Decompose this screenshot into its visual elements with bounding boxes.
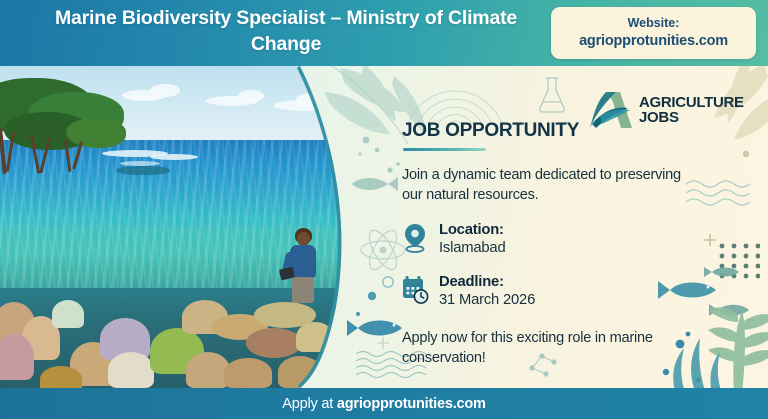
footer-prefix: Apply at [282, 396, 337, 412]
fish-school-decoration [652, 264, 760, 388]
agriculture-jobs-logo: AGRICULTURE JOBS [588, 90, 744, 130]
location-value: Islamabad [439, 240, 505, 258]
lab-flask-icon [536, 74, 568, 116]
cloud-shape [296, 93, 328, 105]
coral-shape [108, 352, 154, 388]
coral-shape [52, 300, 84, 328]
coral-shape [296, 322, 334, 352]
sparkle-icon [376, 336, 390, 350]
deadline-label: Deadline: [439, 274, 535, 292]
header-bar: Marine Biodiversity Specialist – Ministr… [0, 0, 768, 66]
sparkle-icon [702, 232, 718, 248]
coral-shape [0, 334, 34, 380]
researcher-legs [292, 277, 314, 303]
footer-url[interactable]: agriopprotunities.com [337, 396, 486, 412]
detail-deadline: Deadline: 31 March 2026 [402, 274, 535, 310]
dot-decoration [740, 148, 752, 160]
mangrove-canopy [66, 118, 126, 148]
hero-photo-image [0, 66, 372, 388]
job-advertisement-poster: Marine Biodiversity Specialist – Ministr… [0, 0, 768, 419]
surf-foam [150, 154, 198, 160]
table-coral [246, 328, 302, 358]
coral-shape [224, 358, 272, 388]
researcher-head [297, 232, 310, 246]
body-area: AGRICULTURE JOBS JOB OPPORTUNITY Join a … [0, 66, 768, 388]
seaweed-decoration [648, 264, 768, 388]
heading-underline [403, 148, 486, 151]
logo-line-1: AGRICULTURE [639, 95, 744, 110]
call-to-action-text: Apply now for this exciting role in mari… [402, 329, 692, 369]
footer-apply-text: Apply at agriopprotunities.com [282, 396, 486, 412]
coral-shape [278, 356, 322, 388]
logo-mark-icon [588, 90, 634, 130]
rock-outcrop [116, 166, 170, 175]
content-panel: AGRICULTURE JOBS JOB OPPORTUNITY Join a … [372, 66, 768, 388]
coral-shape [40, 366, 82, 388]
page-title: Marine Biodiversity Specialist – Ministr… [26, 6, 546, 57]
researcher-figure [278, 228, 330, 304]
website-url: agriopprotunities.com [579, 32, 728, 50]
cloud-shape [238, 90, 264, 102]
location-pin-icon [402, 222, 429, 258]
hero-photo [0, 66, 372, 388]
footer-bar: Apply at agriopprotunities.com [0, 388, 768, 419]
deadline-value: 31 March 2026 [439, 292, 535, 310]
location-label: Location: [439, 222, 505, 240]
calendar-clock-icon [402, 274, 429, 310]
cloud-shape [150, 84, 180, 97]
logo-line-2: JOBS [639, 110, 744, 125]
dot-grid-decoration [716, 240, 760, 280]
intro-text: Join a dynamic team dedicated to preserv… [402, 166, 702, 206]
detail-location: Location: Islamabad [402, 222, 505, 258]
website-label: Website: [628, 16, 680, 32]
website-badge[interactable]: Website: agriopprotunities.com [551, 7, 756, 59]
section-heading: JOB OPPORTUNITY [402, 120, 579, 142]
